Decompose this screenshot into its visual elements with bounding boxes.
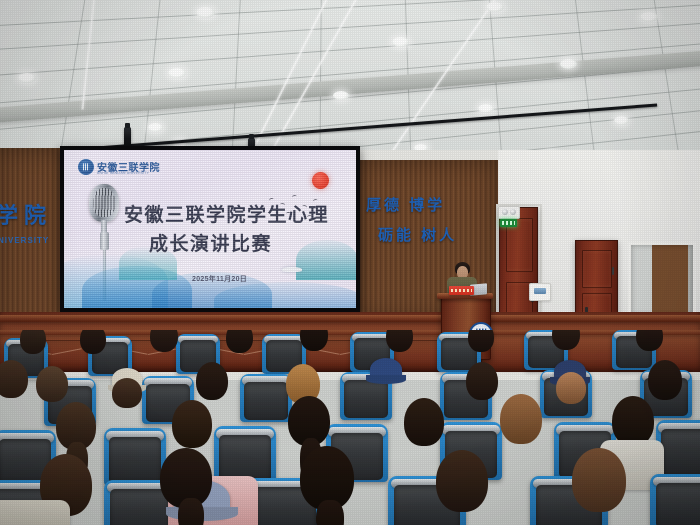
- audience-head: [386, 330, 413, 352]
- emergency-light: [498, 206, 520, 219]
- audience-head: [436, 450, 488, 512]
- ceiling-downlight: [168, 68, 186, 78]
- audience-head: [552, 330, 580, 350]
- left-wall-chinese-text: 学院: [0, 205, 52, 227]
- ceiling-downlight: [614, 116, 629, 125]
- wall-motto-line2: 砺能 树人: [378, 228, 457, 243]
- audience-head: [572, 448, 626, 512]
- podium-name-card: [449, 286, 474, 295]
- audience-head: [112, 378, 142, 408]
- slide-title-line2: 成长演讲比赛: [149, 229, 272, 256]
- seat[interactable]: [104, 428, 166, 486]
- led-screen: 安徽三联学院 ANHUI SANLIAN UNIVERSITY 安徽三联学院学生: [64, 150, 356, 308]
- ceiling-downlight: [392, 37, 409, 47]
- stage-rail: [0, 315, 700, 322]
- slide-title-line1: 安徽三联学院学生心理: [124, 200, 329, 227]
- left-wall-latin-text: NIVERSITY: [0, 236, 49, 245]
- audience-head: [196, 362, 228, 400]
- mountain-graphic: [296, 240, 356, 280]
- sun-icon: [312, 172, 329, 189]
- wall-motto-line1: 厚德 博学: [366, 198, 445, 213]
- door-hinge: [612, 267, 614, 275]
- audience-head: [466, 362, 498, 400]
- audience-coat: [0, 500, 70, 525]
- ceiling-downlight: [560, 59, 577, 69]
- audience-head: [468, 330, 494, 352]
- bird-icon: [292, 195, 298, 200]
- audience-head: [500, 394, 542, 444]
- door-panel: [582, 250, 612, 288]
- audience-head: [556, 372, 586, 404]
- ceiling-downlight: [640, 12, 658, 22]
- audience-head: [648, 360, 682, 400]
- audience-head: [636, 330, 663, 351]
- audience-head: [300, 330, 328, 351]
- audience-head: [150, 330, 178, 352]
- audience-head: [20, 330, 46, 354]
- track-spotlight: [124, 127, 131, 148]
- wall-control-box[interactable]: [529, 283, 551, 301]
- audience-head: [36, 366, 68, 402]
- audience-hair: [316, 500, 344, 525]
- microphone-stand: [100, 232, 109, 250]
- ceiling-downlight: [486, 2, 504, 12]
- audience-cap: [370, 358, 402, 381]
- boat-icon: [282, 267, 302, 272]
- ceiling-downlight: [333, 91, 349, 100]
- slide-university-seal-icon: [78, 159, 94, 175]
- audience-head: [80, 330, 106, 354]
- exit-sign: [500, 219, 517, 227]
- audience-head: [0, 360, 28, 398]
- cable-conduit: [81, 0, 96, 110]
- audience-seating: [0, 330, 700, 525]
- microphone-icon: [89, 184, 119, 222]
- ceiling-downlight: [478, 104, 494, 113]
- seat[interactable]: [650, 474, 700, 525]
- ceiling-downlight: [18, 73, 36, 83]
- slide-logo-subtext: ANHUI SANLIAN UNIVERSITY: [97, 171, 149, 175]
- audience-head: [612, 396, 654, 446]
- audience-head: [404, 398, 444, 446]
- ceiling-downlight: [196, 7, 215, 18]
- audience-hair: [178, 498, 204, 525]
- audience-head: [226, 330, 253, 353]
- interior-window: [628, 242, 696, 318]
- seat[interactable]: [240, 374, 292, 422]
- auditorium-photo: 学院 NIVERSITY 厚德 博学 砺能 树人 安徽三联学院 ANHUI SA…: [0, 0, 700, 525]
- ceiling-downlight: [148, 123, 163, 132]
- slide-date: 2025年11月20日: [192, 274, 247, 284]
- audience-head: [172, 400, 212, 448]
